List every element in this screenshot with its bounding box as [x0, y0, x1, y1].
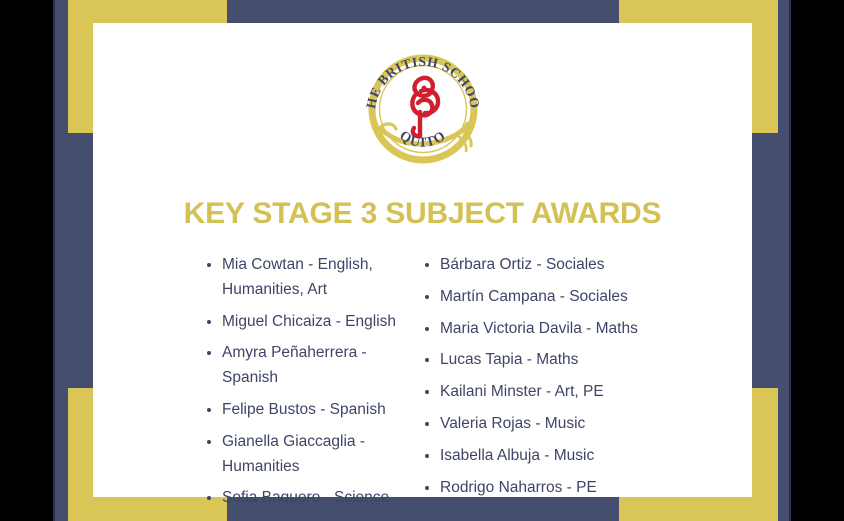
slide-canvas: THE BRITISH SCHOOL [53, 0, 791, 521]
list-item: Martín Campana - Sociales [423, 285, 752, 310]
letterbox-seam-right [789, 0, 791, 521]
list-item: Miguel Chicaiza - English [205, 310, 401, 335]
list-item: Felipe Bustos - Spanish [205, 398, 401, 423]
awards-columns: Mia Cowtan - English, Humanities, Art Mi… [93, 253, 752, 521]
list-item: Isabella Albuja - Music [423, 444, 752, 469]
list-item: Lucas Tapia - Maths [423, 348, 752, 373]
school-logo: THE BRITISH SCHOOL [93, 44, 752, 174]
list-item: Rodrigo Naharros - PE [423, 476, 752, 501]
list-item: Mia Cowtan - English, Humanities, Art [205, 253, 401, 303]
awards-column-right: Bárbara Ortiz - Sociales Martín Campana … [401, 253, 752, 507]
list-item: Bárbara Ortiz - Sociales [423, 253, 752, 278]
list-item: Gianella Giaccaglia - Humanities [205, 430, 401, 480]
list-item: Amyra Peñaherrera - Spanish [205, 341, 401, 391]
awards-list-left: Mia Cowtan - English, Humanities, Art Mi… [205, 253, 401, 521]
school-crest-icon: THE BRITISH SCHOOL [358, 44, 488, 174]
presentation-stage: THE BRITISH SCHOOL [0, 0, 844, 521]
svg-text:QUITO: QUITO [396, 128, 449, 150]
content-card: THE BRITISH SCHOOL [93, 23, 752, 497]
page-title: KEY STAGE 3 SUBJECT AWARDS [93, 197, 752, 231]
list-item: Valeria Rojas - Music [423, 412, 752, 437]
awards-column-left: Mia Cowtan - English, Humanities, Art Mi… [93, 253, 401, 521]
list-item: Maria Victoria Davila - Maths [423, 317, 752, 342]
awards-list-right: Bárbara Ortiz - Sociales Martín Campana … [423, 253, 752, 500]
list-item: Sofia Baquero - Science [205, 486, 401, 511]
letterbox-seam-left [53, 0, 55, 521]
list-item: Kailani Minster - Art, PE [423, 380, 752, 405]
